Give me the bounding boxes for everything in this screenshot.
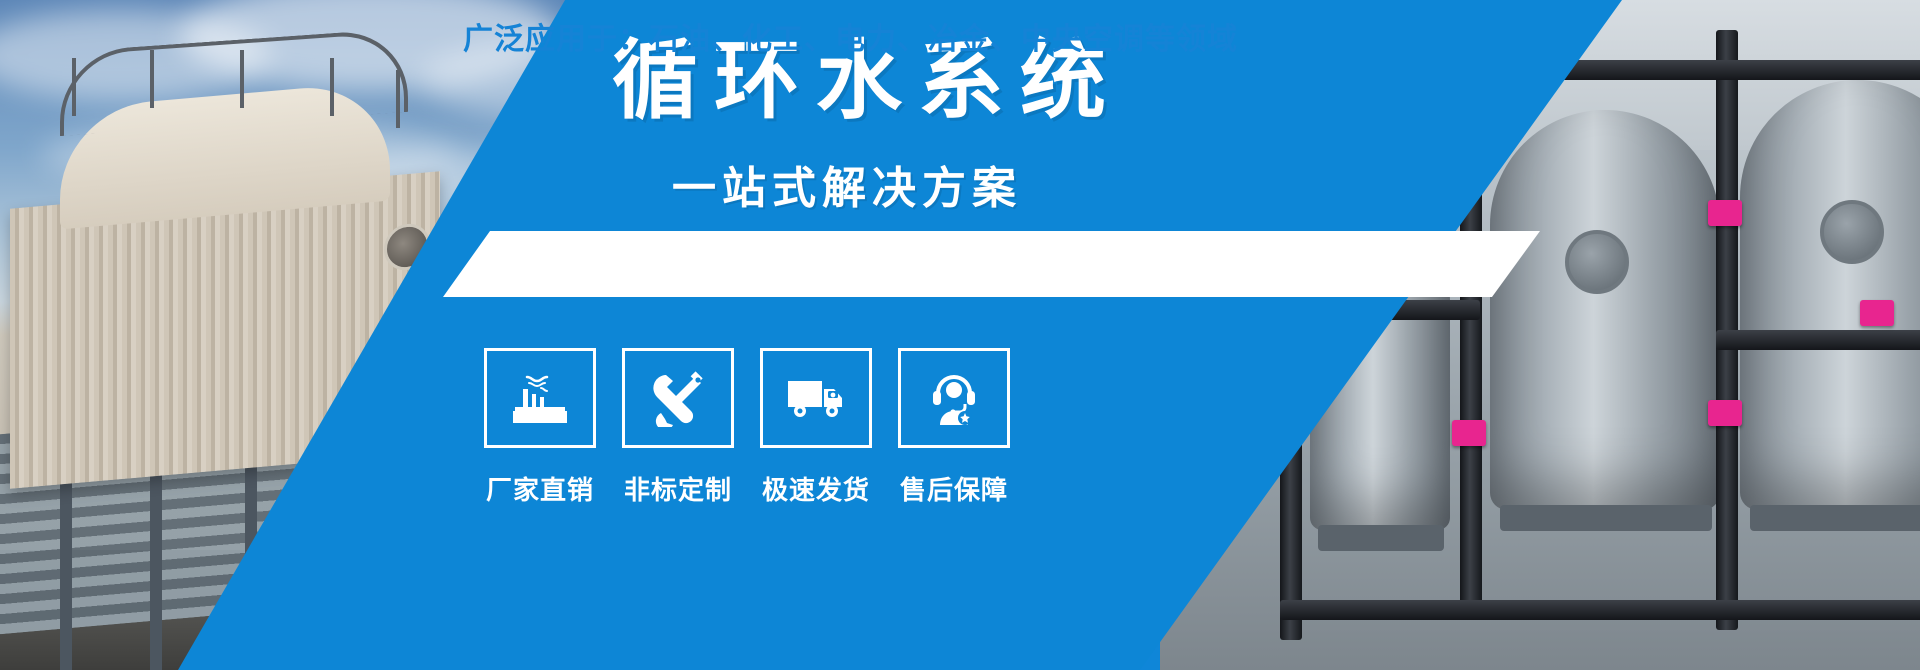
horizontal-pipe	[1280, 600, 1920, 620]
railing-post	[396, 70, 400, 128]
pipe-valve	[1452, 420, 1486, 446]
feature-icon-row	[484, 348, 1010, 448]
tank-base	[1750, 505, 1920, 531]
tank-base	[1318, 525, 1444, 551]
pipe-valve	[1708, 400, 1742, 426]
tank-manhole	[1820, 200, 1884, 264]
feature-label-row: 厂家直销 非标定制 极速发货 售后保障	[484, 470, 1010, 507]
page-subtitle: 一站式解决方案	[672, 152, 1022, 216]
railing-post	[330, 58, 334, 116]
feature-label-factory: 厂家直销	[484, 470, 596, 507]
feature-item-shipping[interactable]	[760, 348, 872, 448]
pipe-valve	[1860, 300, 1894, 326]
railing-post	[150, 50, 154, 108]
promo-banner: 循环水系统 一站式解决方案 广泛应用于：石油、化工、电力、冶金、中央空调等领域	[0, 0, 1920, 670]
tank-manhole	[1565, 230, 1629, 294]
railing-post	[240, 50, 244, 108]
feature-label-support: 售后保障	[898, 470, 1010, 507]
tank-base	[1500, 505, 1712, 531]
tagline-text: 广泛应用于：石油、化工、电力、冶金、中央空调等领域	[463, 14, 1238, 58]
horizontal-pipe	[1716, 330, 1920, 350]
truck-icon	[784, 373, 848, 423]
filter-tank	[1740, 80, 1920, 510]
support-icon	[925, 369, 983, 427]
filter-tank	[1490, 110, 1720, 510]
feature-item-custom[interactable]	[622, 348, 734, 448]
tools-icon	[648, 369, 708, 427]
factory-icon	[509, 369, 571, 427]
feature-item-support[interactable]	[898, 348, 1010, 448]
feature-label-custom: 非标定制	[622, 470, 734, 507]
feature-label-shipping: 极速发货	[760, 470, 872, 507]
pipe-valve	[1708, 200, 1742, 226]
railing-post	[72, 58, 76, 116]
feature-item-factory[interactable]	[484, 348, 596, 448]
